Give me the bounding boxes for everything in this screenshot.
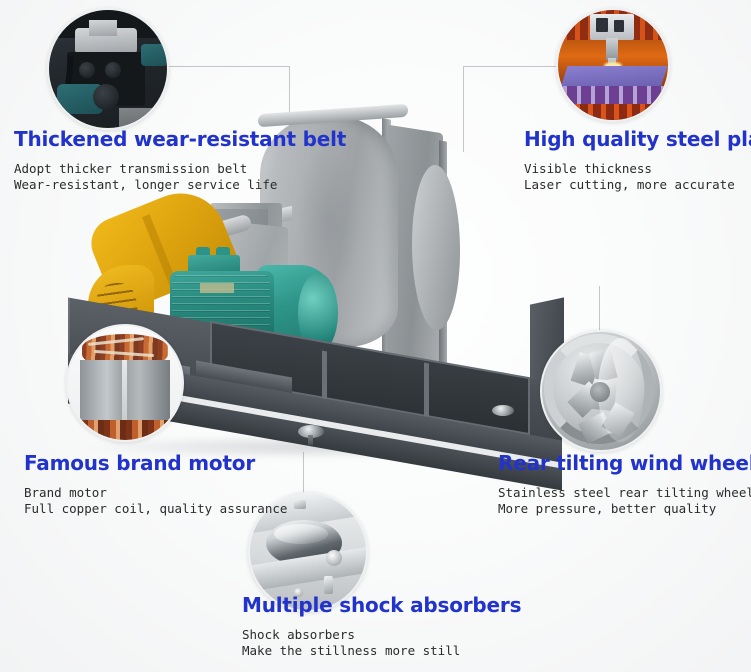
callout-shock-absorbers-title: Multiple shock absorbers (242, 592, 521, 618)
callout-wind-wheel-lines: Stainless steel rear tilting wheel More … (498, 485, 751, 517)
callout-wind-wheel-title: Rear tilting wind wheel (498, 450, 751, 476)
callout-steel-plate-line-1: Visible thickness (524, 161, 751, 177)
infographic-canvas: Thickened wear-resistant belt Adopt thic… (0, 0, 751, 672)
callout-steel-plate-title: High quality steel plate (524, 126, 751, 152)
motor-stator-photo (66, 324, 184, 442)
callout-belt-lines: Adopt thicker transmission belt Wear-res… (14, 161, 346, 193)
laser-cutting-photo (556, 8, 670, 122)
callout-motor-line-2: Full copper coil, quality assurance (24, 501, 287, 517)
callout-belt-line-1: Adopt thicker transmission belt (14, 161, 346, 177)
callout-shock-absorbers-lines: Shock absorbers Make the stillness more … (242, 627, 521, 659)
callout-shock-absorbers-line-2: Make the stillness more still (242, 643, 521, 659)
callout-motor-lines: Brand motor Full copper coil, quality as… (24, 485, 287, 517)
shock-absorber-foot-right (492, 405, 514, 416)
motor-nameplate (200, 283, 234, 293)
callout-motor-line-1: Brand motor (24, 485, 287, 501)
callout-belt-line-2: Wear-resistant, longer service life (14, 177, 346, 193)
callout-belt-title: Thickened wear-resistant belt (14, 126, 346, 152)
callout-motor-title: Famous brand motor (24, 450, 287, 476)
callout-motor: Famous brand motor Brand motor Full copp… (24, 450, 287, 517)
callout-shock-absorbers: Multiple shock absorbers Shock absorbers… (242, 592, 521, 659)
callout-belt: Thickened wear-resistant belt Adopt thic… (14, 126, 346, 193)
callout-shock-absorbers-line-1: Shock absorbers (242, 627, 521, 643)
callout-steel-plate-line-2: Laser cutting, more accurate (524, 177, 751, 193)
belt-pulley-photo (47, 8, 169, 130)
shock-absorber-stem-front (308, 435, 313, 445)
callout-wind-wheel-line-2: More pressure, better quality (498, 501, 751, 517)
callout-steel-plate: High quality steel plate Visible thickne… (524, 126, 751, 193)
impeller-wheel-photo (540, 330, 662, 452)
callout-wind-wheel: Rear tilting wind wheel Stainless steel … (498, 450, 751, 517)
callout-steel-plate-lines: Visible thickness Laser cutting, more ac… (524, 161, 751, 193)
callout-wind-wheel-line-1: Stainless steel rear tilting wheel (498, 485, 751, 501)
